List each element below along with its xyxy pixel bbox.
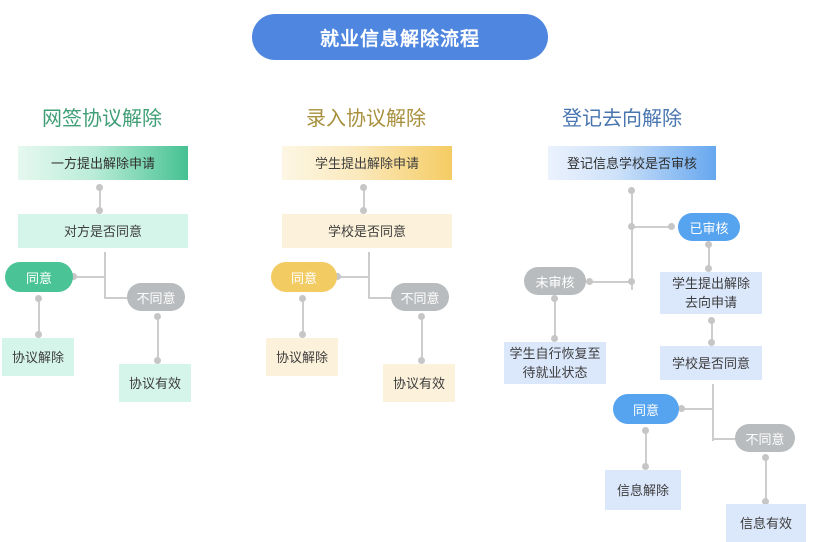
connector-dengji-no-result: [765, 457, 767, 501]
connector-dot: [360, 207, 367, 214]
node-luru-result-no: 协议有效: [383, 364, 455, 402]
connector-wangqian-no-result: [157, 316, 159, 360]
pill-dengji-no: 不同意: [735, 424, 795, 452]
pill-wangqian-no: 不同意: [127, 283, 185, 311]
connector-dot: [678, 405, 685, 412]
connector-dot: [642, 463, 649, 470]
connector-dengji-yes-result: [645, 430, 647, 466]
column-header-dengji: 登记去向解除: [562, 102, 682, 131]
connector-dot: [551, 335, 558, 342]
connector-dot: [360, 184, 367, 191]
result-line-2: 待就业状态: [522, 365, 587, 380]
branch-trunk-dengji-review: [631, 190, 633, 290]
branch-arm-not-reviewed: [589, 281, 633, 283]
branch-arm-reviewed: [631, 226, 673, 228]
connector-dot: [35, 331, 42, 338]
connector-dot: [708, 317, 715, 324]
node-dengji-start: 登记信息学校是否审核: [548, 146, 716, 180]
next-line-1: 学生提出解除: [672, 276, 750, 291]
node-wangqian-decision: 对方是否同意: [18, 214, 188, 248]
pill-wangqian-yes: 同意: [5, 262, 73, 292]
connector-dot: [628, 187, 635, 194]
connector-dot: [154, 313, 161, 320]
flowchart-canvas: 就业信息解除流程 网签协议解除 一方提出解除申请 对方是否同意 同意 不同意 协…: [0, 0, 816, 542]
node-dengji-reviewed-next: 学生提出解除 去向申请: [660, 272, 762, 314]
pill-luru-yes: 同意: [271, 262, 337, 292]
pill-dengji-reviewed: 已审核: [678, 213, 740, 241]
connector-luru-no-result: [421, 316, 423, 360]
connector-dot: [628, 278, 635, 285]
pill-luru-no: 不同意: [391, 283, 449, 311]
connector-dot: [299, 295, 306, 302]
node-dengji-decision: 学校是否同意: [660, 346, 762, 380]
branch-arm-yes-dengji: [681, 408, 713, 410]
column-header-luru: 录入协议解除: [306, 102, 426, 131]
result-line-1: 学生自行恢复至: [509, 346, 600, 361]
connector-dot: [762, 454, 769, 461]
connector-dot: [154, 357, 161, 364]
connector-dot: [418, 357, 425, 364]
connector-dot: [35, 295, 42, 302]
branch-trunk-dengji: [712, 384, 714, 441]
node-dengji-result-yes: 信息解除: [605, 470, 681, 510]
branch-arm-yes-luru: [337, 276, 369, 278]
connector-dot: [96, 207, 103, 214]
connector-wangqian-yes-result: [38, 298, 40, 334]
connector-dot: [96, 184, 103, 191]
page-title: 就业信息解除流程: [252, 14, 548, 60]
connector-luru-yes-result: [302, 298, 304, 334]
node-luru-decision: 学校是否同意: [282, 214, 452, 248]
connector-dot: [299, 331, 306, 338]
pill-dengji-not-reviewed: 未审核: [524, 267, 586, 295]
connector-dot: [551, 295, 558, 302]
connector-dot: [418, 313, 425, 320]
next-line-2: 去向申请: [685, 295, 737, 310]
connector-dot: [705, 265, 712, 272]
pill-dengji-yes: 同意: [613, 394, 679, 424]
node-wangqian-result-yes: 协议解除: [2, 338, 74, 376]
connector-dot: [708, 339, 715, 346]
branch-arm-yes-wangqian: [73, 276, 105, 278]
node-wangqian-result-no: 协议有效: [119, 364, 191, 402]
node-dengji-result-no: 信息有效: [726, 504, 806, 542]
connector-dot: [628, 223, 635, 230]
connector-dot: [586, 278, 593, 285]
node-luru-result-yes: 协议解除: [266, 338, 338, 376]
node-luru-start: 学生提出解除申请: [282, 146, 452, 180]
node-wangqian-start: 一方提出解除申请: [18, 146, 188, 180]
node-dengji-not-reviewed-result: 学生自行恢复至 待就业状态: [504, 342, 606, 384]
column-header-wangqian: 网签协议解除: [42, 102, 162, 131]
connector-dot: [668, 223, 675, 230]
connector-dot: [642, 427, 649, 434]
connector-dot: [705, 241, 712, 248]
connector-not-reviewed-result: [554, 298, 556, 338]
